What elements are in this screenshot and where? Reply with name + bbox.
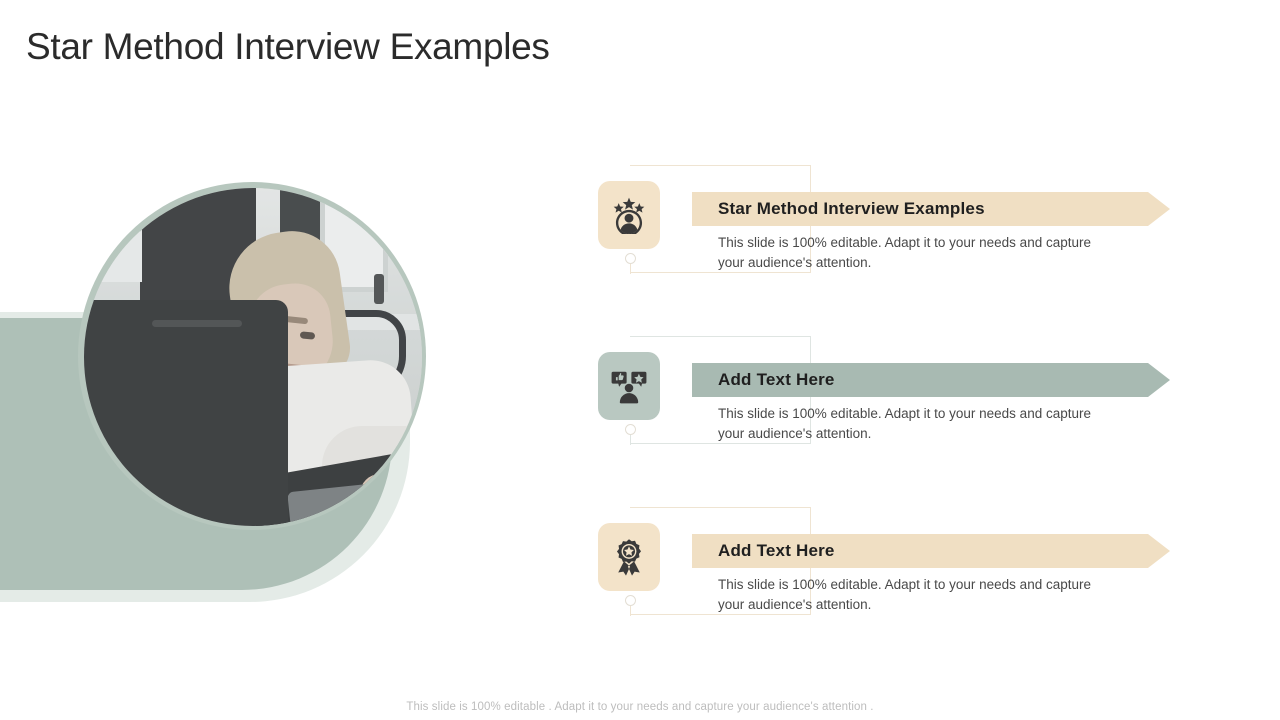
footer-note: This slide is 100% editable . Adapt it t… <box>0 701 1280 713</box>
row-body-text: This slide is 100% editable. Adapt it to… <box>718 575 1118 614</box>
connector-pin-bottom <box>625 253 636 264</box>
row-body-text: This slide is 100% editable. Adapt it to… <box>718 233 1118 272</box>
person-feedback-bubbles-icon <box>610 367 648 405</box>
row-heading-label: Star Method Interview Examples <box>718 199 985 219</box>
row-heading-banner[interactable]: Add Text Here <box>692 534 1170 568</box>
person-with-stars-icon <box>610 196 648 234</box>
page-title: Star Method Interview Examples <box>26 26 550 68</box>
office-photo <box>84 188 422 526</box>
row-heading-banner[interactable]: Star Method Interview Examples <box>692 192 1170 226</box>
icon-tile-person-with-stars[interactable] <box>598 181 660 249</box>
award-ribbon-icon <box>610 538 648 576</box>
slide-canvas: Star Method Interview Examples <box>0 0 1280 720</box>
row-heading-label: Add Text Here <box>718 541 835 561</box>
connector-pin-bottom <box>625 595 636 606</box>
row-heading-label: Add Text Here <box>718 370 835 390</box>
row-heading-banner[interactable]: Add Text Here <box>692 363 1170 397</box>
row-body-text: This slide is 100% editable. Adapt it to… <box>718 404 1118 443</box>
icon-tile-person-feedback[interactable] <box>598 352 660 420</box>
left-visual-group <box>0 160 440 620</box>
connector-pin-bottom <box>625 424 636 435</box>
icon-tile-award-ribbon[interactable] <box>598 523 660 591</box>
